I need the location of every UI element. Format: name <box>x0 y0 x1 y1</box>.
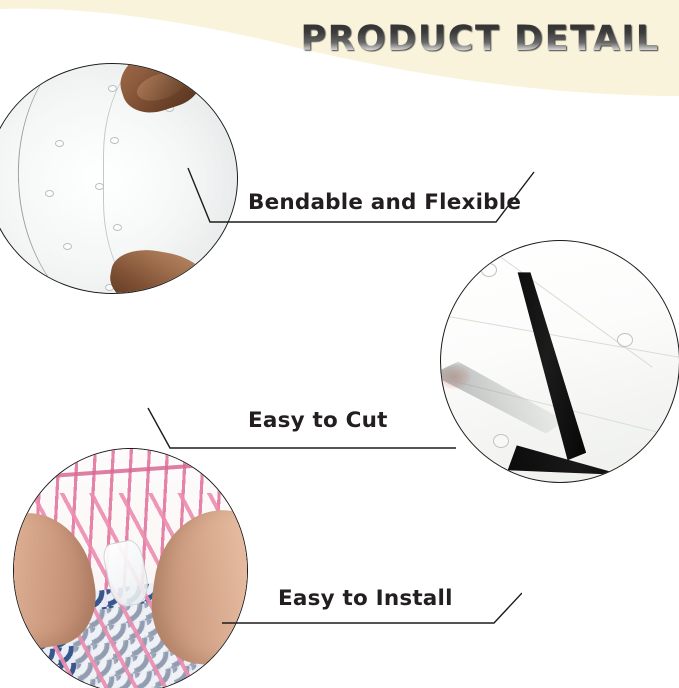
sheet-hole <box>481 263 497 277</box>
label-easy-to-install: Easy to Install <box>278 586 453 611</box>
sheet-hole <box>63 243 72 250</box>
sheet-hole <box>113 224 122 231</box>
page-title: PRODUCT DETAIL <box>300 17 660 61</box>
sheet-panel-edge <box>440 313 679 360</box>
label-easy-to-cut: Easy to Cut <box>248 408 388 433</box>
scissor-blade-upper <box>515 272 586 460</box>
sheet-panel-edge <box>460 240 653 367</box>
product-detail-infographic: PRODUCT DETAIL <box>0 0 679 688</box>
sheet-hole <box>493 434 509 448</box>
photo-easy-to-install <box>13 448 248 688</box>
sheet-hole <box>55 140 64 147</box>
photo-bendable-and-flexible <box>0 63 238 294</box>
photo-easy-to-cut <box>440 240 679 483</box>
label-bendable-and-flexible: Bendable and Flexible <box>248 190 521 215</box>
sheet-hole <box>108 85 117 92</box>
sheet-hole <box>617 333 633 347</box>
